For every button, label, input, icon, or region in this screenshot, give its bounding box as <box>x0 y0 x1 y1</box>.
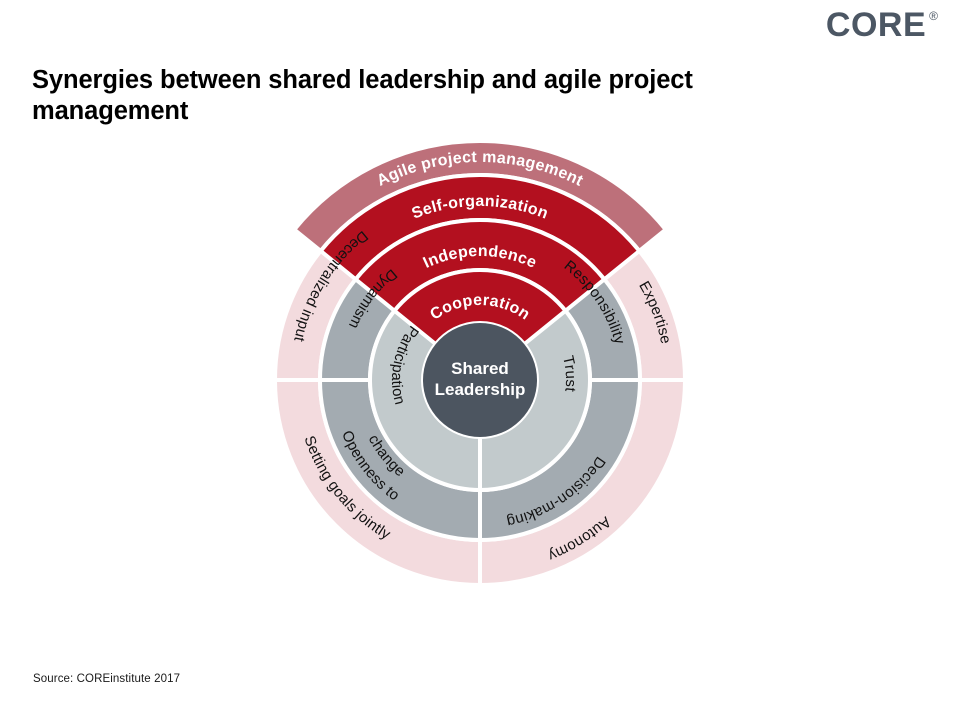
center-label-line1: Shared <box>451 359 509 378</box>
page-title: Synergies between shared leadership and … <box>32 65 802 127</box>
core-logo: CORE ® <box>826 8 938 42</box>
source-note: Source: COREinstitute 2017 <box>33 673 180 685</box>
synergy-sunburst-diagram: Agile project managementSelf-organizatio… <box>260 160 700 600</box>
center-label-line2: Leadership <box>435 380 526 399</box>
logo-wordmark: CORE <box>826 8 926 42</box>
sunburst-svg: Agile project managementSelf-organizatio… <box>260 160 700 600</box>
registered-trademark-icon: ® <box>929 10 938 22</box>
